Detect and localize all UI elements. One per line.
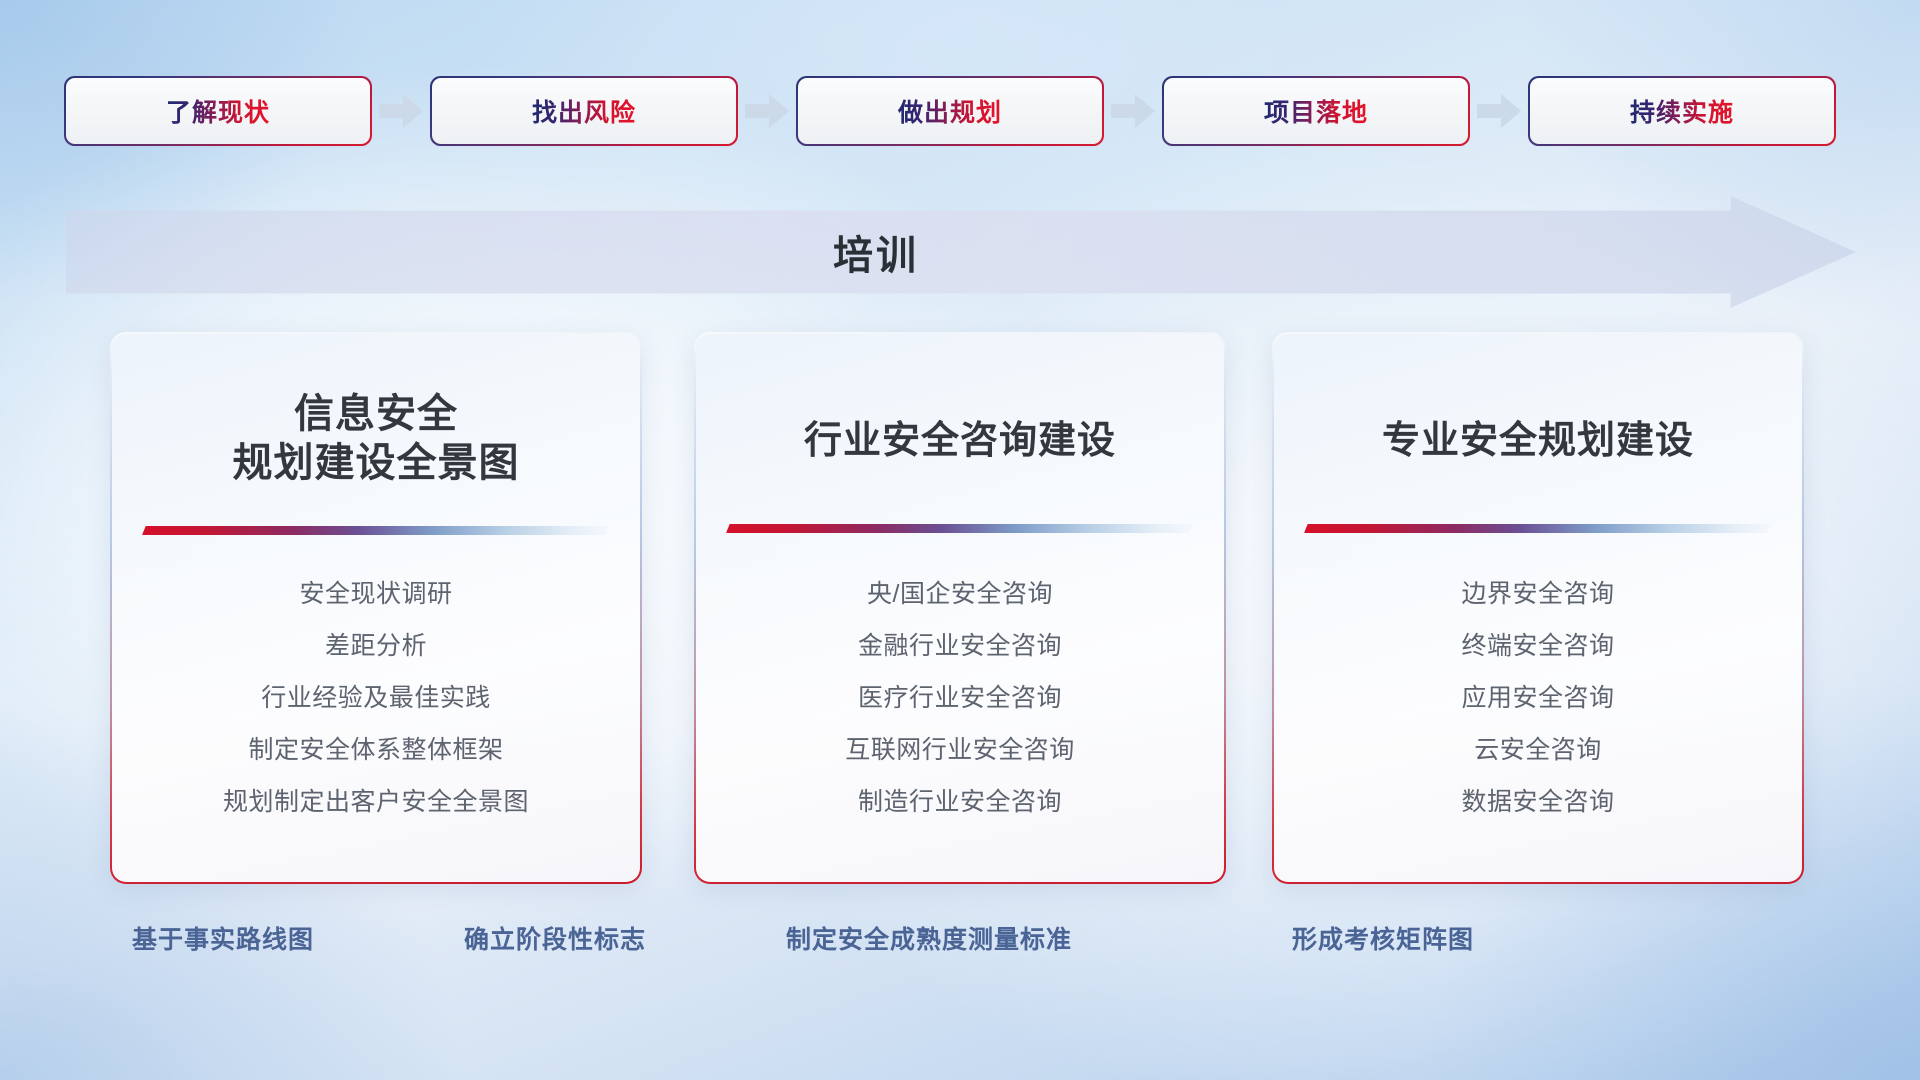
list-item: 边界安全咨询 — [1274, 582, 1802, 607]
list-item: 医疗行业安全咨询 — [696, 686, 1224, 711]
card-divider — [1304, 524, 1772, 533]
process-step-5[interactable]: 持续实施 — [1530, 78, 1834, 144]
list-item: 制造行业安全咨询 — [696, 790, 1224, 815]
list-item: 制定安全体系整体框架 — [112, 738, 640, 763]
card-title: 行业安全咨询建设 — [696, 334, 1224, 464]
slide-canvas: 了解现状 找出风险 做出规划 项目落地 — [0, 0, 1920, 1080]
caption-assessment-matrix: 形成考核矩阵图 — [1292, 920, 1474, 956]
card-title: 专业安全规划建设 — [1274, 334, 1802, 464]
card-divider — [142, 526, 610, 535]
right-arrow-icon — [736, 88, 798, 134]
card-item-list: 央/国企安全咨询 金融行业安全咨询 医疗行业安全咨询 互联网行业安全咨询 制造行… — [696, 582, 1224, 842]
training-banner: 培训 — [66, 196, 1856, 308]
card-item-list: 安全现状调研 差距分析 行业经验及最佳实践 制定安全体系整体框架 规划制定出客户… — [112, 582, 640, 842]
list-item: 行业经验及最佳实践 — [112, 686, 640, 711]
caption-milestones: 确立阶段性标志 — [464, 920, 646, 956]
card-divider — [726, 524, 1194, 533]
list-item: 规划制定出客户安全全景图 — [112, 790, 640, 815]
card-group: 信息安全 规划建设全景图 安全现状调研 差距分析 行业经验及最佳实践 制定安全体… — [0, 334, 1920, 894]
caption-maturity-standard: 制定安全成熟度测量标准 — [786, 920, 1072, 956]
list-item: 应用安全咨询 — [1274, 686, 1802, 711]
process-step-1[interactable]: 了解现状 — [66, 78, 370, 144]
right-arrow-icon — [370, 88, 432, 134]
process-step-2-label: 找出风险 — [532, 93, 636, 129]
process-step-3[interactable]: 做出规划 — [798, 78, 1102, 144]
process-step-row: 了解现状 找出风险 做出规划 项目落地 — [66, 76, 1856, 146]
list-item: 终端安全咨询 — [1274, 634, 1802, 659]
training-banner-title: 培训 — [66, 196, 1856, 308]
list-item: 差距分析 — [112, 634, 640, 659]
card-industry-security-consulting[interactable]: 行业安全咨询建设 央/国企安全咨询 金融行业安全咨询 医疗行业安全咨询 互联网行… — [696, 334, 1224, 882]
process-step-4-label: 项目落地 — [1264, 93, 1368, 129]
card-info-security-blueprint[interactable]: 信息安全 规划建设全景图 安全现状调研 差距分析 行业经验及最佳实践 制定安全体… — [112, 334, 640, 882]
list-item: 云安全咨询 — [1274, 738, 1802, 763]
caption-roadmap: 基于事实路线图 — [132, 920, 314, 956]
card-item-list: 边界安全咨询 终端安全咨询 应用安全咨询 云安全咨询 数据安全咨询 — [1274, 582, 1802, 842]
process-step-4[interactable]: 项目落地 — [1164, 78, 1468, 144]
list-item: 金融行业安全咨询 — [696, 634, 1224, 659]
list-item: 数据安全咨询 — [1274, 790, 1802, 815]
process-step-1-label: 了解现状 — [166, 93, 270, 129]
card-professional-security-planning[interactable]: 专业安全规划建设 边界安全咨询 终端安全咨询 应用安全咨询 云安全咨询 数据安全… — [1274, 334, 1802, 882]
card-title: 信息安全 规划建设全景图 — [112, 334, 640, 488]
process-step-3-label: 做出规划 — [898, 93, 1002, 129]
process-step-5-label: 持续实施 — [1630, 93, 1734, 129]
right-arrow-icon — [1468, 88, 1530, 134]
list-item: 央/国企安全咨询 — [696, 582, 1224, 607]
right-arrow-icon — [1102, 88, 1164, 134]
list-item: 安全现状调研 — [112, 582, 640, 607]
caption-row: 基于事实路线图 确立阶段性标志 制定安全成熟度测量标准 形成考核矩阵图 — [0, 920, 1920, 968]
process-step-2[interactable]: 找出风险 — [432, 78, 736, 144]
list-item: 互联网行业安全咨询 — [696, 738, 1224, 763]
